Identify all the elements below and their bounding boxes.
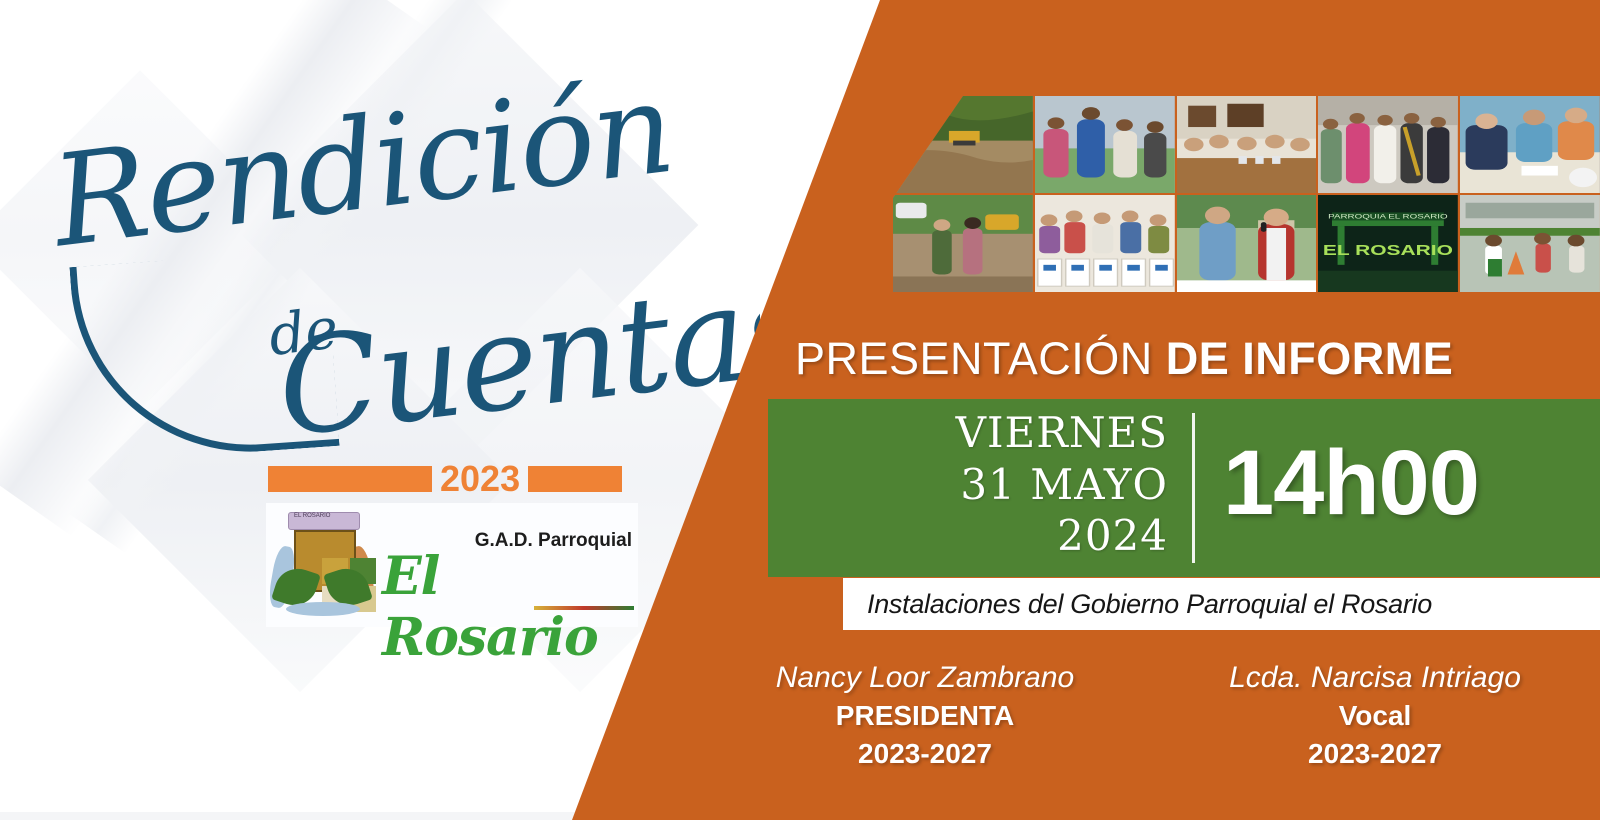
- svg-text:EL ROSARIO: EL ROSARIO: [1323, 242, 1453, 258]
- school-sports-court-event-icon: [1460, 195, 1600, 292]
- year-bar-right: [528, 466, 622, 492]
- gad-logo-text: G.A.D. Parroquial El Rosario: [374, 506, 638, 624]
- collage-photo: [1177, 195, 1317, 292]
- collage-photo: [1177, 96, 1317, 193]
- signatory-name: Lcda. Narcisa Intriago: [1150, 658, 1600, 697]
- collage-photo: [1318, 96, 1458, 193]
- gad-logo: EL ROSARIO G.A.D. Parroquial El Rosario: [266, 503, 638, 627]
- venue-bar: Instalaciones del Gobierno Parroquial el…: [843, 578, 1600, 630]
- date-day-month: 31 MAYO: [828, 459, 1168, 511]
- crest-ribbon-text: EL ROSARIO: [294, 513, 330, 519]
- year-banner: 2023: [268, 465, 630, 493]
- date-year: 2024: [828, 510, 1168, 562]
- signatory: Lcda. Narcisa Intriago Vocal 2023-2027: [1150, 658, 1600, 773]
- signatory-name: Nancy Loor Zambrano: [700, 658, 1150, 697]
- signatory-term: 2023-2027: [700, 735, 1150, 773]
- collage-photo: [1460, 96, 1600, 193]
- venue-label: Instalaciones del Gobierno Parroquial el…: [843, 589, 1432, 620]
- signatories-row: Nancy Loor Zambrano PRESIDENTA 2023-2027…: [700, 658, 1600, 773]
- pageant-delegation-group-icon: [1318, 96, 1458, 193]
- collage-photo: [1035, 96, 1175, 193]
- poster-canvas: Rendición de Cuentas 2023 EL ROSARIO: [0, 0, 1600, 820]
- outreach-speech-microphone-icon: [1177, 195, 1317, 292]
- residents-walking-road-works-icon: [893, 195, 1033, 292]
- officials-signing-agreement-icon: [1460, 96, 1600, 193]
- parish-name-underline: [534, 606, 634, 610]
- script-title-block: Rendición de Cuentas: [24, 140, 724, 480]
- page-title: PRESENTACIÓN DE INFORME: [795, 333, 1453, 385]
- collage-photo: PARROQUIA EL ROSARIO EL ROSARIO: [1318, 195, 1458, 292]
- date-time-block: VIERNES 31 MAYO 2024 14h00: [768, 399, 1600, 577]
- photo-collage: PARROQUIA EL ROSARIO EL ROSARIO: [893, 96, 1600, 292]
- signatory: Nancy Loor Zambrano PRESIDENTA 2023-2027: [700, 658, 1150, 773]
- vertical-divider: [1192, 413, 1195, 563]
- signatory-term: 2023-2027: [1150, 735, 1600, 773]
- seniors-community-meeting-icon: [1177, 96, 1317, 193]
- collage-photo: [1460, 195, 1600, 292]
- headline-de-informe: DE INFORME: [1166, 333, 1454, 384]
- signatory-role: Vocal: [1150, 697, 1600, 735]
- year-label: 2023: [432, 461, 528, 497]
- script-title-cuentas: Cuentas: [271, 260, 760, 456]
- date-weekday: VIERNES: [828, 407, 1168, 459]
- women-receiving-donation-boxes-icon: [1035, 195, 1175, 292]
- signatory-role: PRESIDENTA: [700, 697, 1150, 735]
- sports-queens-ceremony-icon: [1035, 96, 1175, 193]
- event-time: 14h00: [1223, 431, 1479, 536]
- year-bar-left: [268, 466, 432, 492]
- parish-crest-icon: EL ROSARIO: [270, 506, 374, 624]
- collage-photo: [893, 195, 1033, 292]
- event-date: VIERNES 31 MAYO 2024: [828, 407, 1168, 562]
- crest-base-ribbon: [286, 602, 360, 616]
- headline-presentacion: PRESENTACIÓN: [795, 333, 1166, 384]
- svg-text:PARROQUIA EL ROSARIO: PARROQUIA EL ROSARIO: [1329, 212, 1449, 220]
- el-rosario-parish-sign-night-icon: PARROQUIA EL ROSARIO EL ROSARIO: [1318, 195, 1458, 292]
- collage-photo: [1035, 195, 1175, 292]
